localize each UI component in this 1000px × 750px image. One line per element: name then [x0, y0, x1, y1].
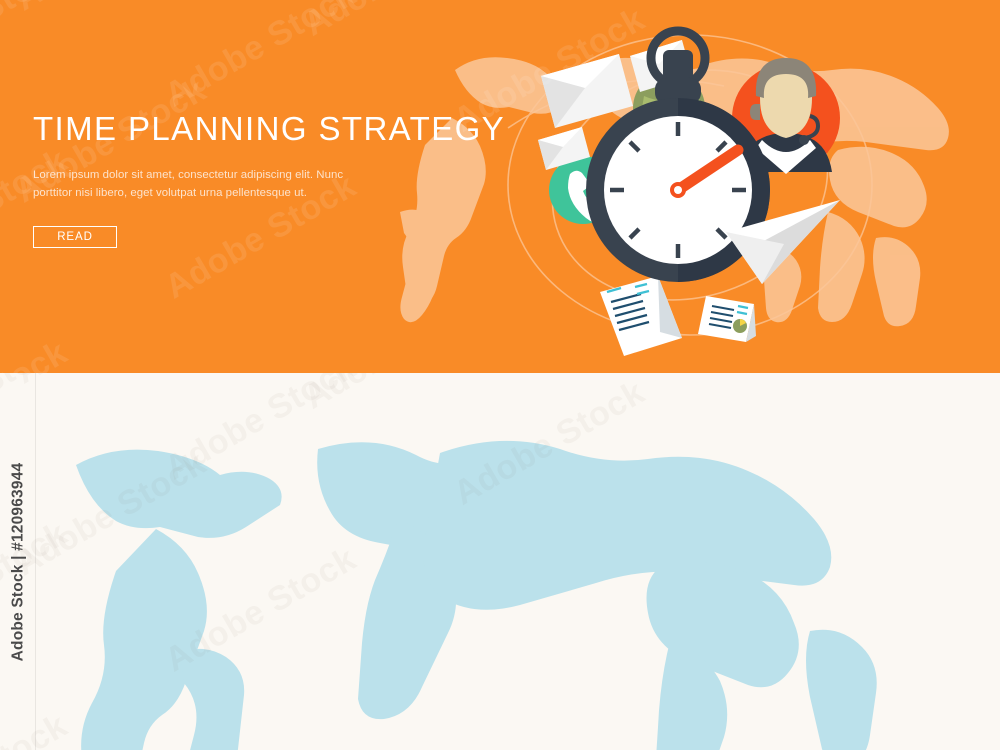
banner-workday-planner: WORKDAY PLANNER Lorem ipsum dolor sit am… [0, 373, 1000, 750]
document-chart-right [698, 296, 756, 342]
banner-top-text-block: TIME PLANNING STRATEGY Lorem ipsum dolor… [33, 112, 493, 203]
banner-time-planning-strategy: TIME PLANNING STRATEGY Lorem ipsum dolor… [0, 0, 1000, 373]
banner-set-canvas: TIME PLANNING STRATEGY Lorem ipsum dolor… [0, 0, 1000, 750]
asset-id-strip: Adobe Stock | #120963944 [0, 373, 36, 750]
read-button[interactable]: READ [33, 226, 117, 248]
body-text-top: Lorem ipsum dolor sit amet, consectetur … [33, 166, 383, 203]
asset-id-label: Adobe Stock | #120963944 [9, 462, 27, 661]
envelope-large [541, 54, 633, 128]
page-title-top: TIME PLANNING STRATEGY [33, 112, 493, 147]
world-map-shape [76, 441, 877, 750]
workday-planner-illustration [0, 373, 1000, 750]
